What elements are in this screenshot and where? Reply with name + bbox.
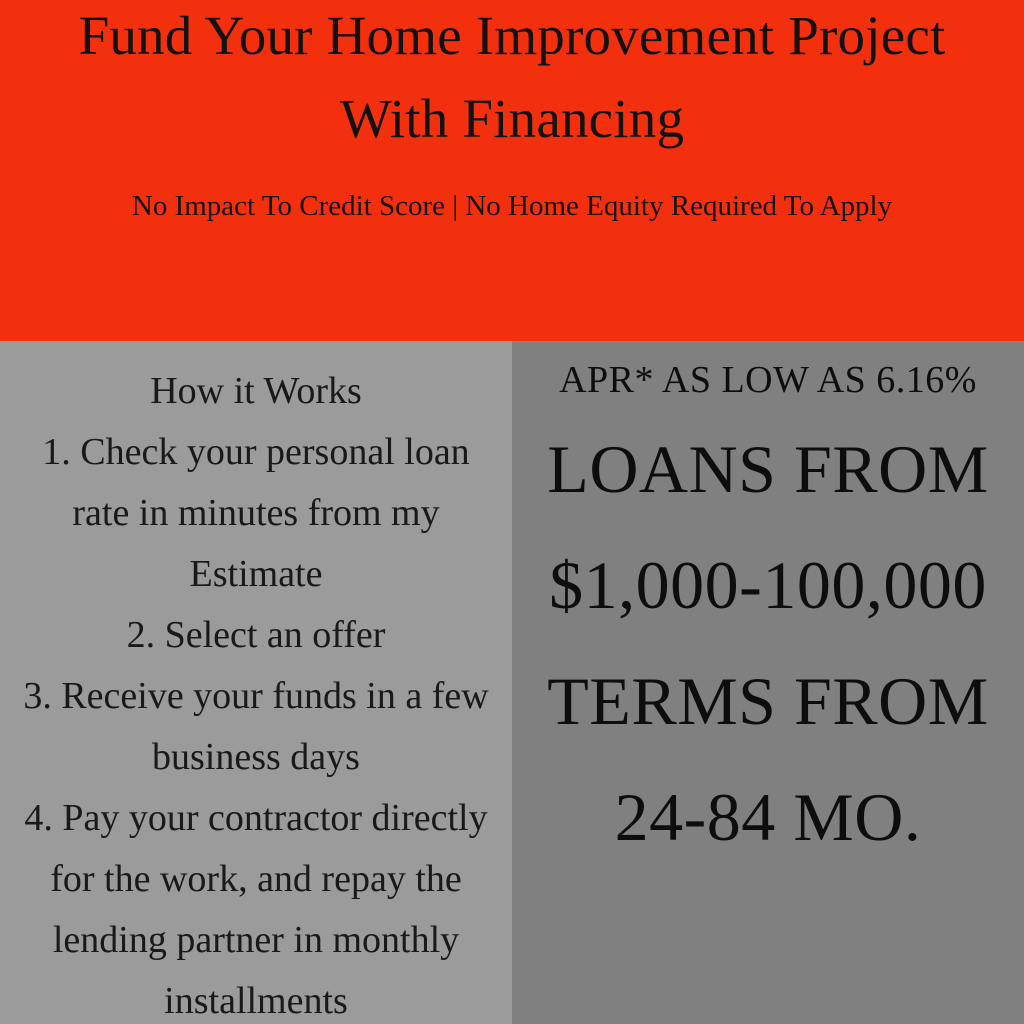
loan-amount-label: LOANS FROM	[538, 411, 998, 527]
how-it-works-heading: How it Works	[21, 361, 491, 422]
apr-rate-line: APR* AS LOW AS 6.16%	[538, 349, 998, 411]
how-it-works-content: How it Works 1. Check your personal loan…	[21, 361, 491, 1024]
info-panels: How it Works 1. Check your personal loan…	[0, 341, 1024, 1024]
how-it-works-step-4: 4. Pay your contractor directly for the …	[21, 788, 491, 1024]
hero-banner: Fund Your Home Improvement Project With …	[0, 0, 1024, 341]
loan-amount-range: $1,000-100,000	[538, 527, 998, 643]
financing-promo-poster: Fund Your Home Improvement Project With …	[0, 0, 1024, 1024]
how-it-works-step-2: 2. Select an offer	[21, 605, 491, 666]
loan-terms-panel: APR* AS LOW AS 6.16% LOANS FROM $1,000-1…	[512, 341, 1024, 1024]
loan-terms-content: APR* AS LOW AS 6.16% LOANS FROM $1,000-1…	[538, 349, 998, 875]
loan-term-label: TERMS FROM	[538, 643, 998, 759]
page-title: Fund Your Home Improvement Project With …	[0, 0, 1024, 160]
loan-term-range: 24-84 MO.	[538, 759, 998, 875]
how-it-works-step-1: 1. Check your personal loan rate in minu…	[21, 422, 491, 605]
hero-subtitle: No Impact To Credit Score | No Home Equi…	[117, 176, 907, 237]
how-it-works-step-3: 3. Receive your funds in a few business …	[21, 666, 491, 788]
how-it-works-panel: How it Works 1. Check your personal loan…	[0, 341, 512, 1024]
